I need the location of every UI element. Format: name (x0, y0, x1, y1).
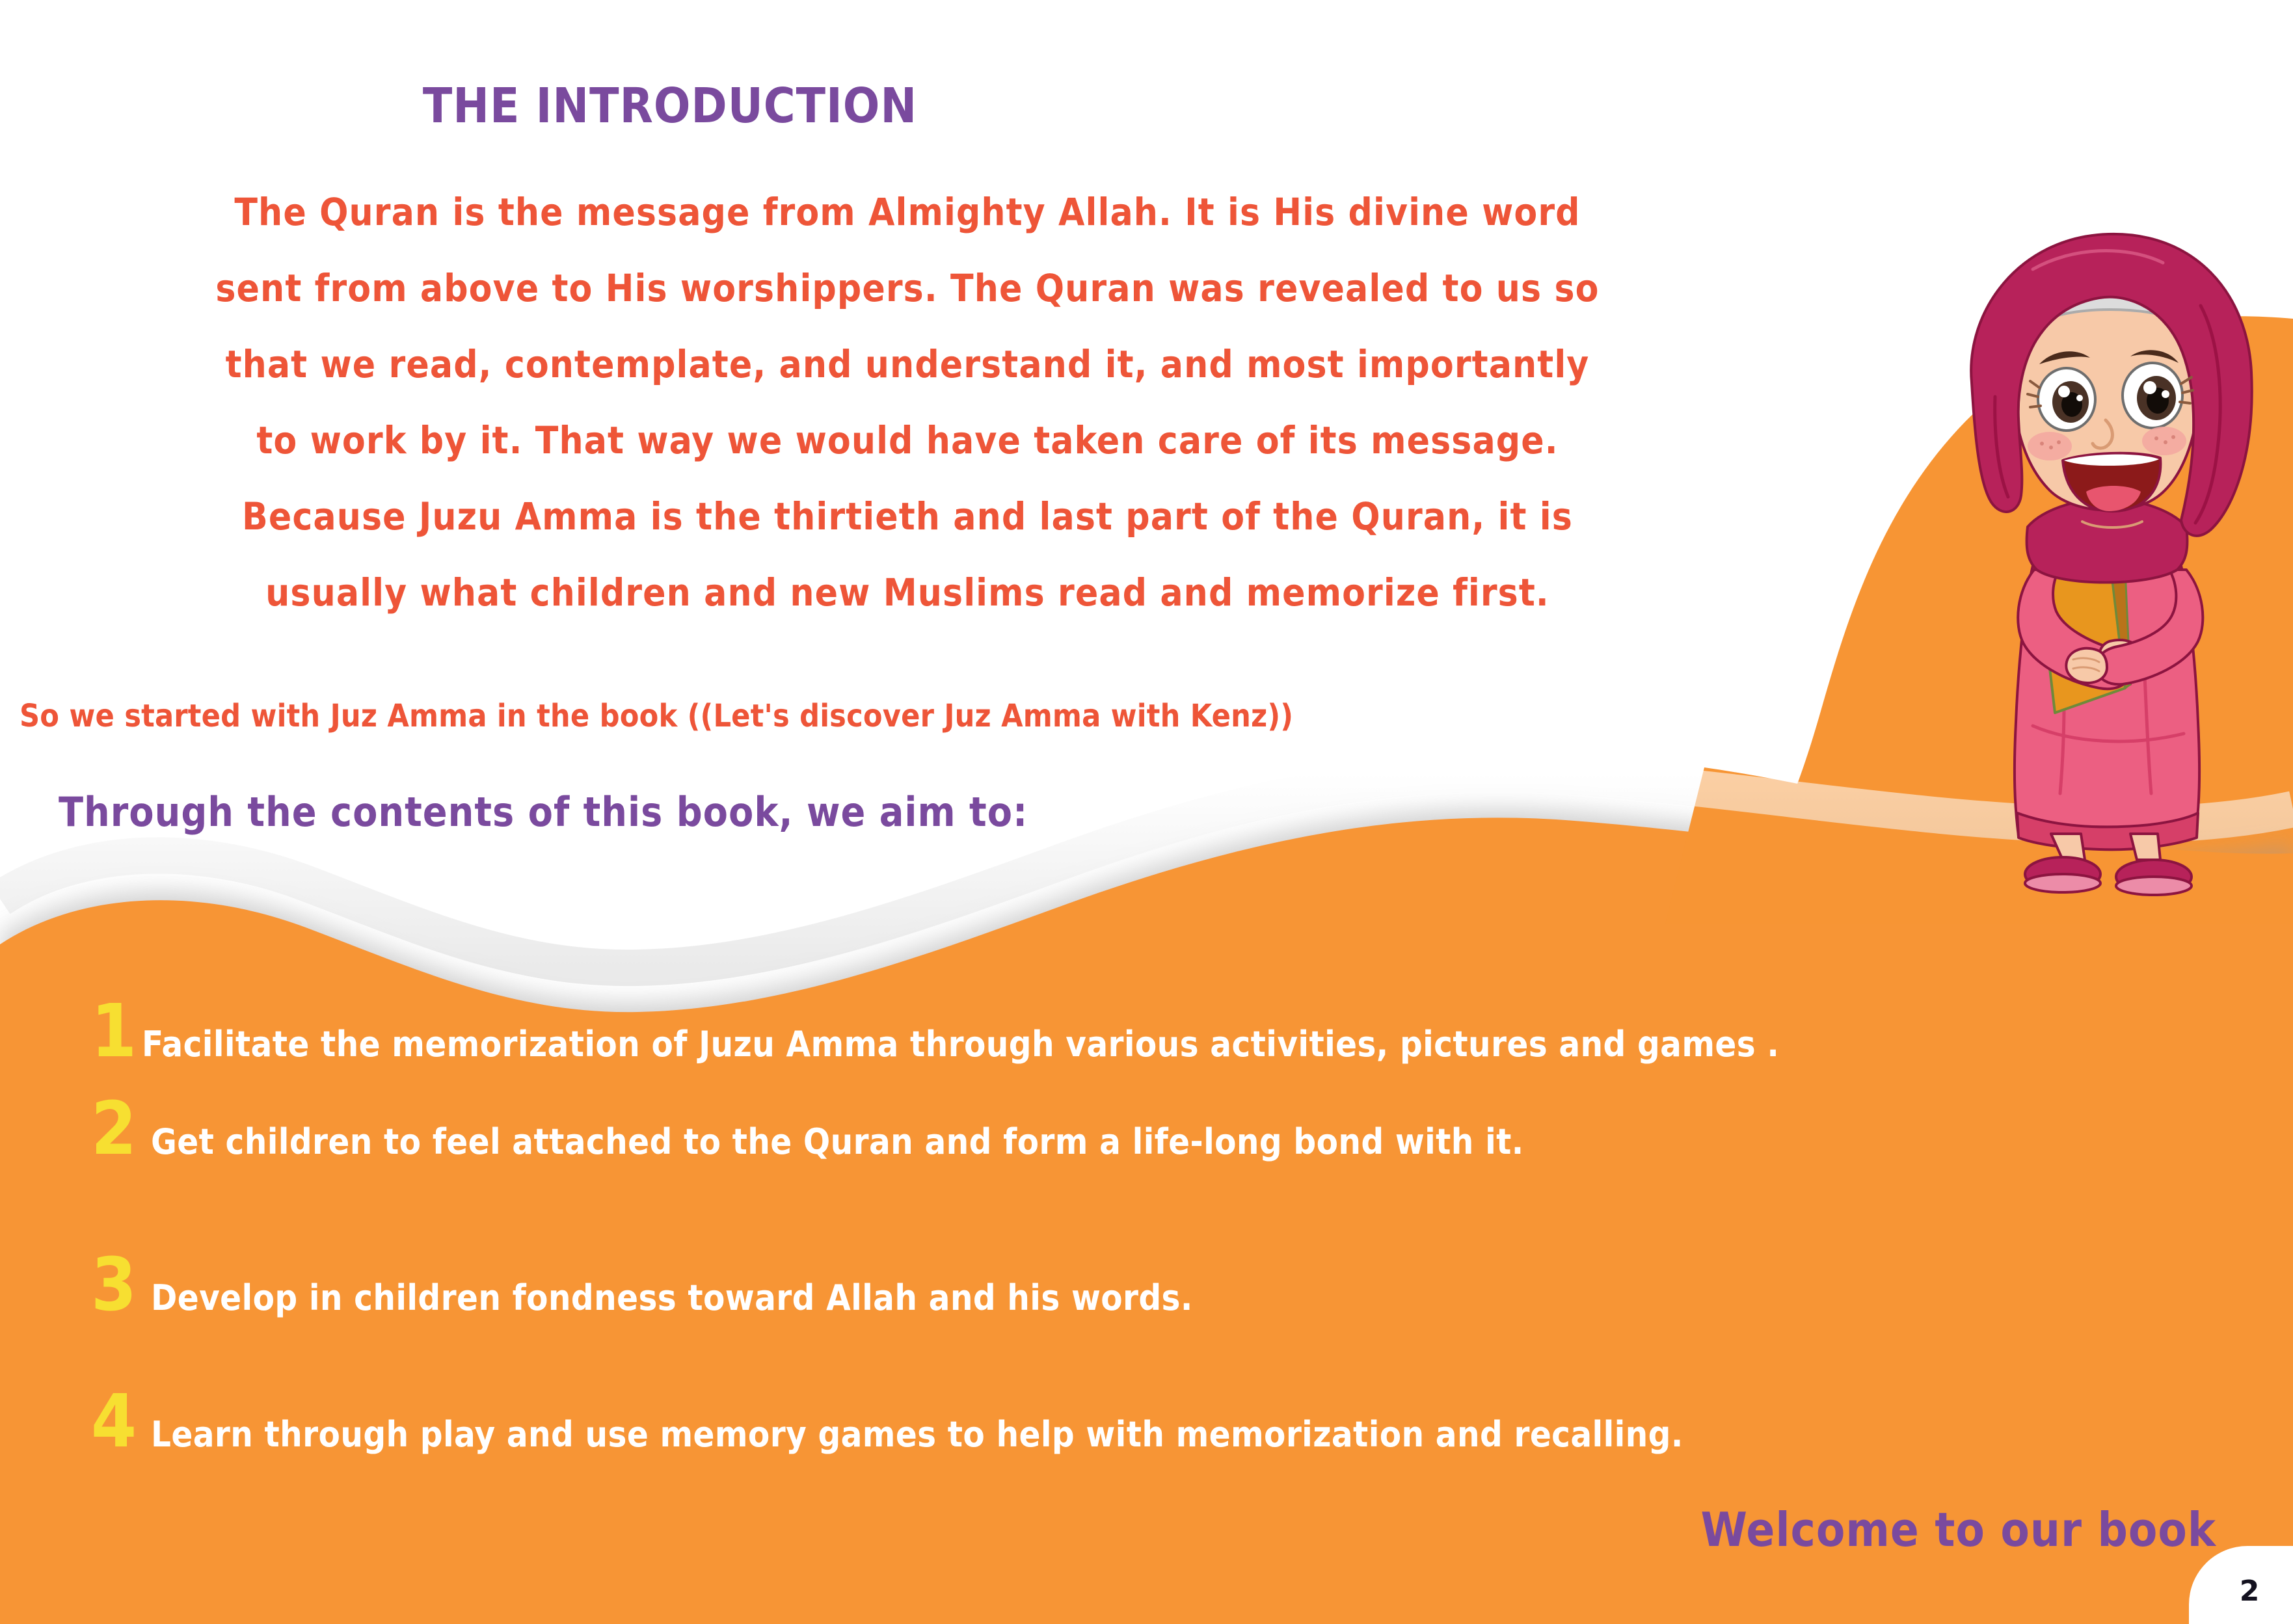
aim-text: Get children to feel attached to the Qur… (142, 1121, 1524, 1162)
muslim-girl-holding-book-illustration (1935, 202, 2273, 911)
intro-line: to work by it. That way we would have ta… (39, 403, 1776, 479)
page-title: THE INTRODUCTION (0, 78, 1340, 134)
list-item: 3 Develop in children fondness toward Al… (91, 1249, 1193, 1322)
aim-text: Learn through play and use memory games … (142, 1414, 1683, 1455)
intro-line: that we read, contemplate, and understan… (39, 326, 1776, 403)
book-reference-line: So we started with Juz Amma in the book … (20, 698, 1293, 734)
aim-number: 1 (91, 995, 142, 1068)
aim-number: 3 (91, 1249, 142, 1322)
list-item: 4 Learn through play and use memory game… (91, 1385, 1683, 1458)
aim-number: 2 (91, 1093, 142, 1165)
list-item: 1 Facilitate the memorization of Juzu Am… (91, 995, 1779, 1068)
welcome-line: Welcome to our book (1700, 1502, 2216, 1557)
intro-line: Because Juzu Amma is the thirtieth and l… (39, 479, 1776, 555)
intro-paragraph: The Quran is the message from Almighty A… (39, 174, 1776, 631)
intro-line: sent from above to His worshippers. The … (39, 250, 1776, 326)
aims-heading: Through the contents of this book, we ai… (59, 788, 1028, 836)
page-number: 2 (2223, 1563, 2260, 1608)
intro-line: usually what children and new Muslims re… (39, 555, 1776, 631)
aim-text: Develop in children fondness toward Alla… (142, 1277, 1193, 1318)
list-item: 2 Get children to feel attached to the Q… (91, 1093, 1524, 1165)
intro-line: The Quran is the message from Almighty A… (39, 174, 1776, 250)
aim-text: Facilitate the memorization of Juzu Amma… (142, 1024, 1779, 1065)
aim-number: 4 (91, 1385, 142, 1458)
